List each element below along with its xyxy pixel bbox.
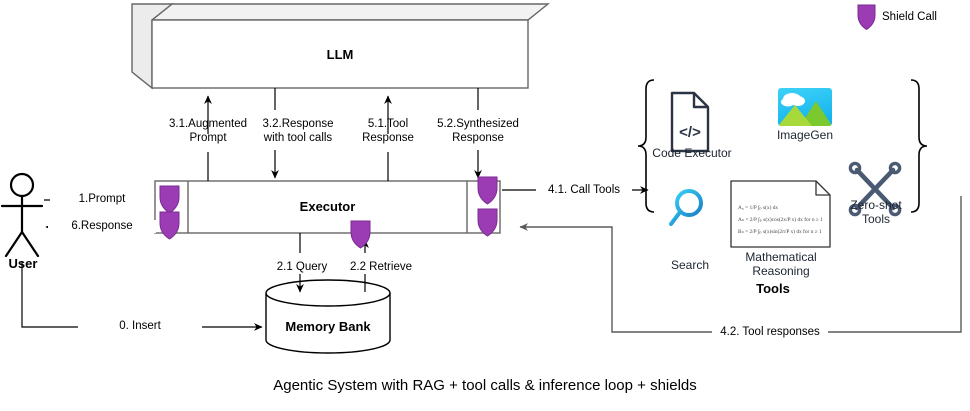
shield-icon-executor-left-bottom [160, 212, 179, 239]
code-document-icon: </> [672, 93, 708, 151]
shield-icon-legend [858, 5, 875, 30]
diagram-canvas: </> [0, 0, 970, 411]
tool-label-imagegen: ImageGen [764, 128, 846, 142]
svg-text:A₀ = 1/P ∫ₚ s(x) dx: A₀ = 1/P ∫ₚ s(x) dx [738, 204, 778, 211]
edge-label-response: 6.Response [48, 220, 156, 233]
edge-label-synthesized-line2: Response [417, 132, 539, 145]
tool-label-zero-shot-line1: Zero-shot [838, 198, 914, 212]
svg-text:</>: </> [679, 124, 701, 141]
tool-label-zero-shot-line2: Tools [838, 212, 914, 226]
edge-label-prompt: 1.Prompt [50, 193, 154, 206]
edge-label-retrieve: 2.2 Retrieve [333, 261, 429, 274]
magnifier-icon [671, 191, 701, 224]
tools-group-label: Tools [718, 281, 828, 296]
edge-label-synthesized-line1: 5.2.Synthesized [417, 118, 539, 131]
llm-node [132, 4, 548, 88]
legend-label: Shield Call [882, 11, 937, 23]
edge-insert [22, 262, 262, 327]
llm-label: LLM [152, 47, 528, 62]
image-icon [778, 88, 832, 126]
edge-label-insert: 0. Insert [78, 320, 202, 333]
user-actor [2, 174, 42, 256]
edge-label-call-tools: 4.1. Call Tools [536, 184, 632, 197]
svg-text:Bₙ = 2/P ∫ₚ s(x)sin(2π/P x) dx: Bₙ = 2/P ∫ₚ s(x)sin(2π/P x) dx for n ≥ 1 [738, 228, 822, 235]
shield-icon-executor-bottom-center [351, 221, 370, 248]
tool-label-search: Search [658, 258, 722, 272]
executor-label: Executor [188, 199, 467, 214]
formula-document-icon: A₀ = 1/P ∫ₚ s(x) dx Aₙ = 2/P ∫ₚ s(x)cos(… [731, 181, 830, 247]
edge-label-tool-responses: 4.2. Tool responses [712, 326, 828, 339]
memory-bank-node [266, 280, 390, 353]
svg-text:Aₙ = 2/P ∫ₚ s(x)cos(2x/P x) dx: Aₙ = 2/P ∫ₚ s(x)cos(2x/P x) dx for n ≥ 1 [738, 216, 823, 223]
user-label: User [0, 256, 46, 271]
tools-group-brace-right [911, 80, 927, 212]
memory-bank-label: Memory Bank [266, 319, 390, 334]
tool-label-math-line2: Reasoning [722, 264, 840, 278]
tool-label-code-executor: Code Executor [645, 146, 739, 160]
diagram-caption: Agentic System with RAG + tool calls & i… [0, 377, 970, 394]
tool-label-math-line1: Mathematical [722, 250, 840, 264]
